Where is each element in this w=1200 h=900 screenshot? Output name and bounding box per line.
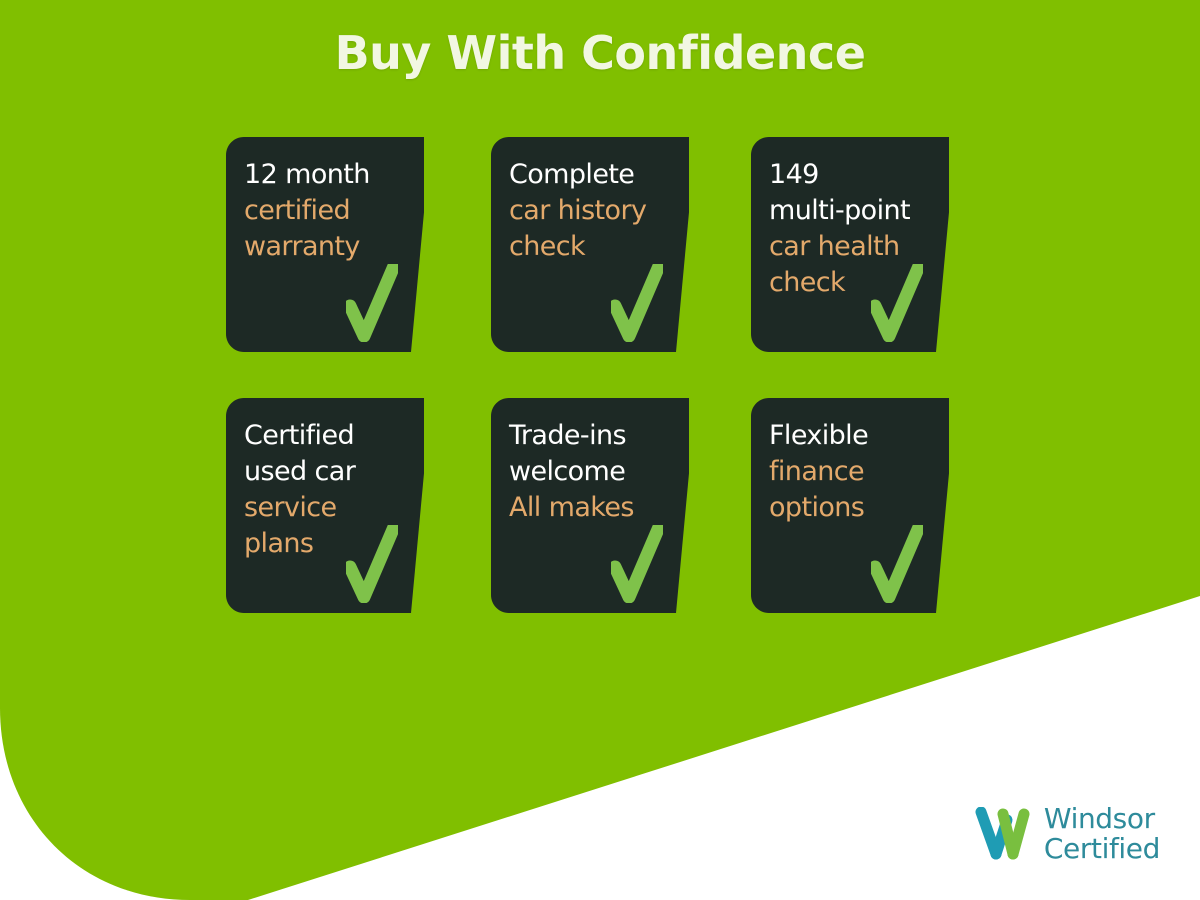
card-line-tan-1: options <box>769 490 939 526</box>
card-line-white-0: Trade-ins <box>509 418 679 454</box>
checkmark-icon <box>871 525 923 603</box>
checkmark-icon <box>346 525 398 603</box>
card-line-tan-0: certified <box>244 193 414 229</box>
card-line-tan-0: All makes <box>509 490 679 526</box>
poster-canvas: Buy With Confidence 12 month certified w… <box>0 0 1200 900</box>
feature-card-car-history-check[interactable]: Complete car history check <box>489 137 689 352</box>
card-line-white-0: Flexible <box>769 418 939 454</box>
feature-card-trade-ins[interactable]: Trade-ins welcome All makes <box>489 398 689 613</box>
card-line-white-0: 12 month <box>244 157 414 193</box>
card-line-tan-0: finance <box>769 454 939 490</box>
card-line-tan-1: check <box>509 229 679 265</box>
checkmark-icon <box>611 525 663 603</box>
card-line-white-0: 149 <box>769 157 939 193</box>
card-line-white-1: multi-point <box>769 193 939 229</box>
page-title: Buy With Confidence <box>0 26 1200 80</box>
windsor-w-icon <box>974 807 1032 861</box>
card-text: Complete car history check <box>509 157 679 265</box>
card-line-white-0: Certified <box>244 418 414 454</box>
feature-card-finance-options[interactable]: Flexible finance options <box>749 398 949 613</box>
checkmark-icon <box>871 264 923 342</box>
feature-card-certified-warranty[interactable]: 12 month certified warranty <box>224 137 424 352</box>
feature-card-grid: 12 month certified warranty Complete car… <box>0 0 1200 900</box>
card-line-white-1: used car <box>244 454 414 490</box>
feature-card-service-plans[interactable]: Certified used car service plans <box>224 398 424 613</box>
card-text: Flexible finance options <box>769 418 939 526</box>
logo-line-1: Windsor <box>1044 804 1160 834</box>
card-text: 12 month certified warranty <box>244 157 414 265</box>
card-text: Trade-ins welcome All makes <box>509 418 679 526</box>
feature-card-multi-point-health-check[interactable]: 149 multi-point car health check <box>749 137 949 352</box>
logo-line-2: Certified <box>1044 834 1160 864</box>
card-line-tan-0: car health <box>769 229 939 265</box>
windsor-certified-logo[interactable]: Windsor Certified <box>974 804 1160 864</box>
card-line-white-0: Complete <box>509 157 679 193</box>
checkmark-icon <box>346 264 398 342</box>
logo-wordmark: Windsor Certified <box>1044 804 1160 864</box>
card-line-tan-0: car history <box>509 193 679 229</box>
checkmark-icon <box>611 264 663 342</box>
card-line-tan-0: service <box>244 490 414 526</box>
card-line-tan-1: warranty <box>244 229 414 265</box>
card-line-white-1: welcome <box>509 454 679 490</box>
